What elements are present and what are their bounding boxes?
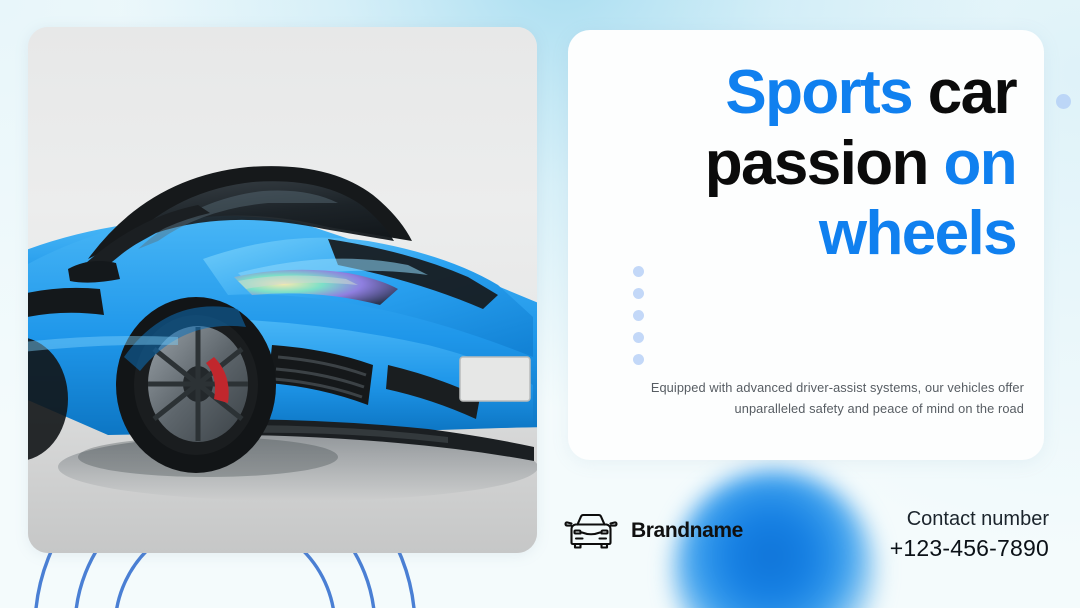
contact-block: Contact number +123-456-7890 — [890, 506, 1049, 564]
headline-word-on: on — [928, 129, 1016, 198]
body-copy: Equipped with advanced driver-assist sys… — [622, 378, 1024, 419]
dot-4 — [633, 332, 644, 343]
headline-word-wheels: wheels — [819, 199, 1016, 268]
car-illustration — [28, 27, 537, 553]
brand-name: Brandname — [631, 519, 743, 543]
headline-line-2: passion on — [592, 129, 1016, 200]
brand-lockup: Brandname — [562, 511, 743, 551]
headline-line-3: wheels — [592, 199, 1016, 270]
page-title: Sports car passion on wheels — [592, 58, 1016, 270]
headline-line-1: Sports car — [592, 58, 1016, 129]
contact-number: +123-456-7890 — [890, 533, 1049, 564]
dot-3 — [633, 310, 644, 321]
car-front-icon — [562, 511, 620, 551]
dot-5 — [633, 354, 644, 365]
headline-word-sports: Sports — [725, 58, 912, 127]
headline-word-passion: passion — [705, 129, 928, 198]
dot-1 — [633, 266, 644, 277]
headline-word-car: car — [912, 58, 1016, 127]
accent-dot — [1056, 94, 1071, 109]
dot-column — [633, 266, 644, 365]
dot-2 — [633, 288, 644, 299]
contact-label: Contact number — [890, 506, 1049, 533]
headline-card: Sports car passion on wheels Equipped wi… — [568, 30, 1044, 460]
blue-sports-car-photo — [28, 27, 537, 553]
